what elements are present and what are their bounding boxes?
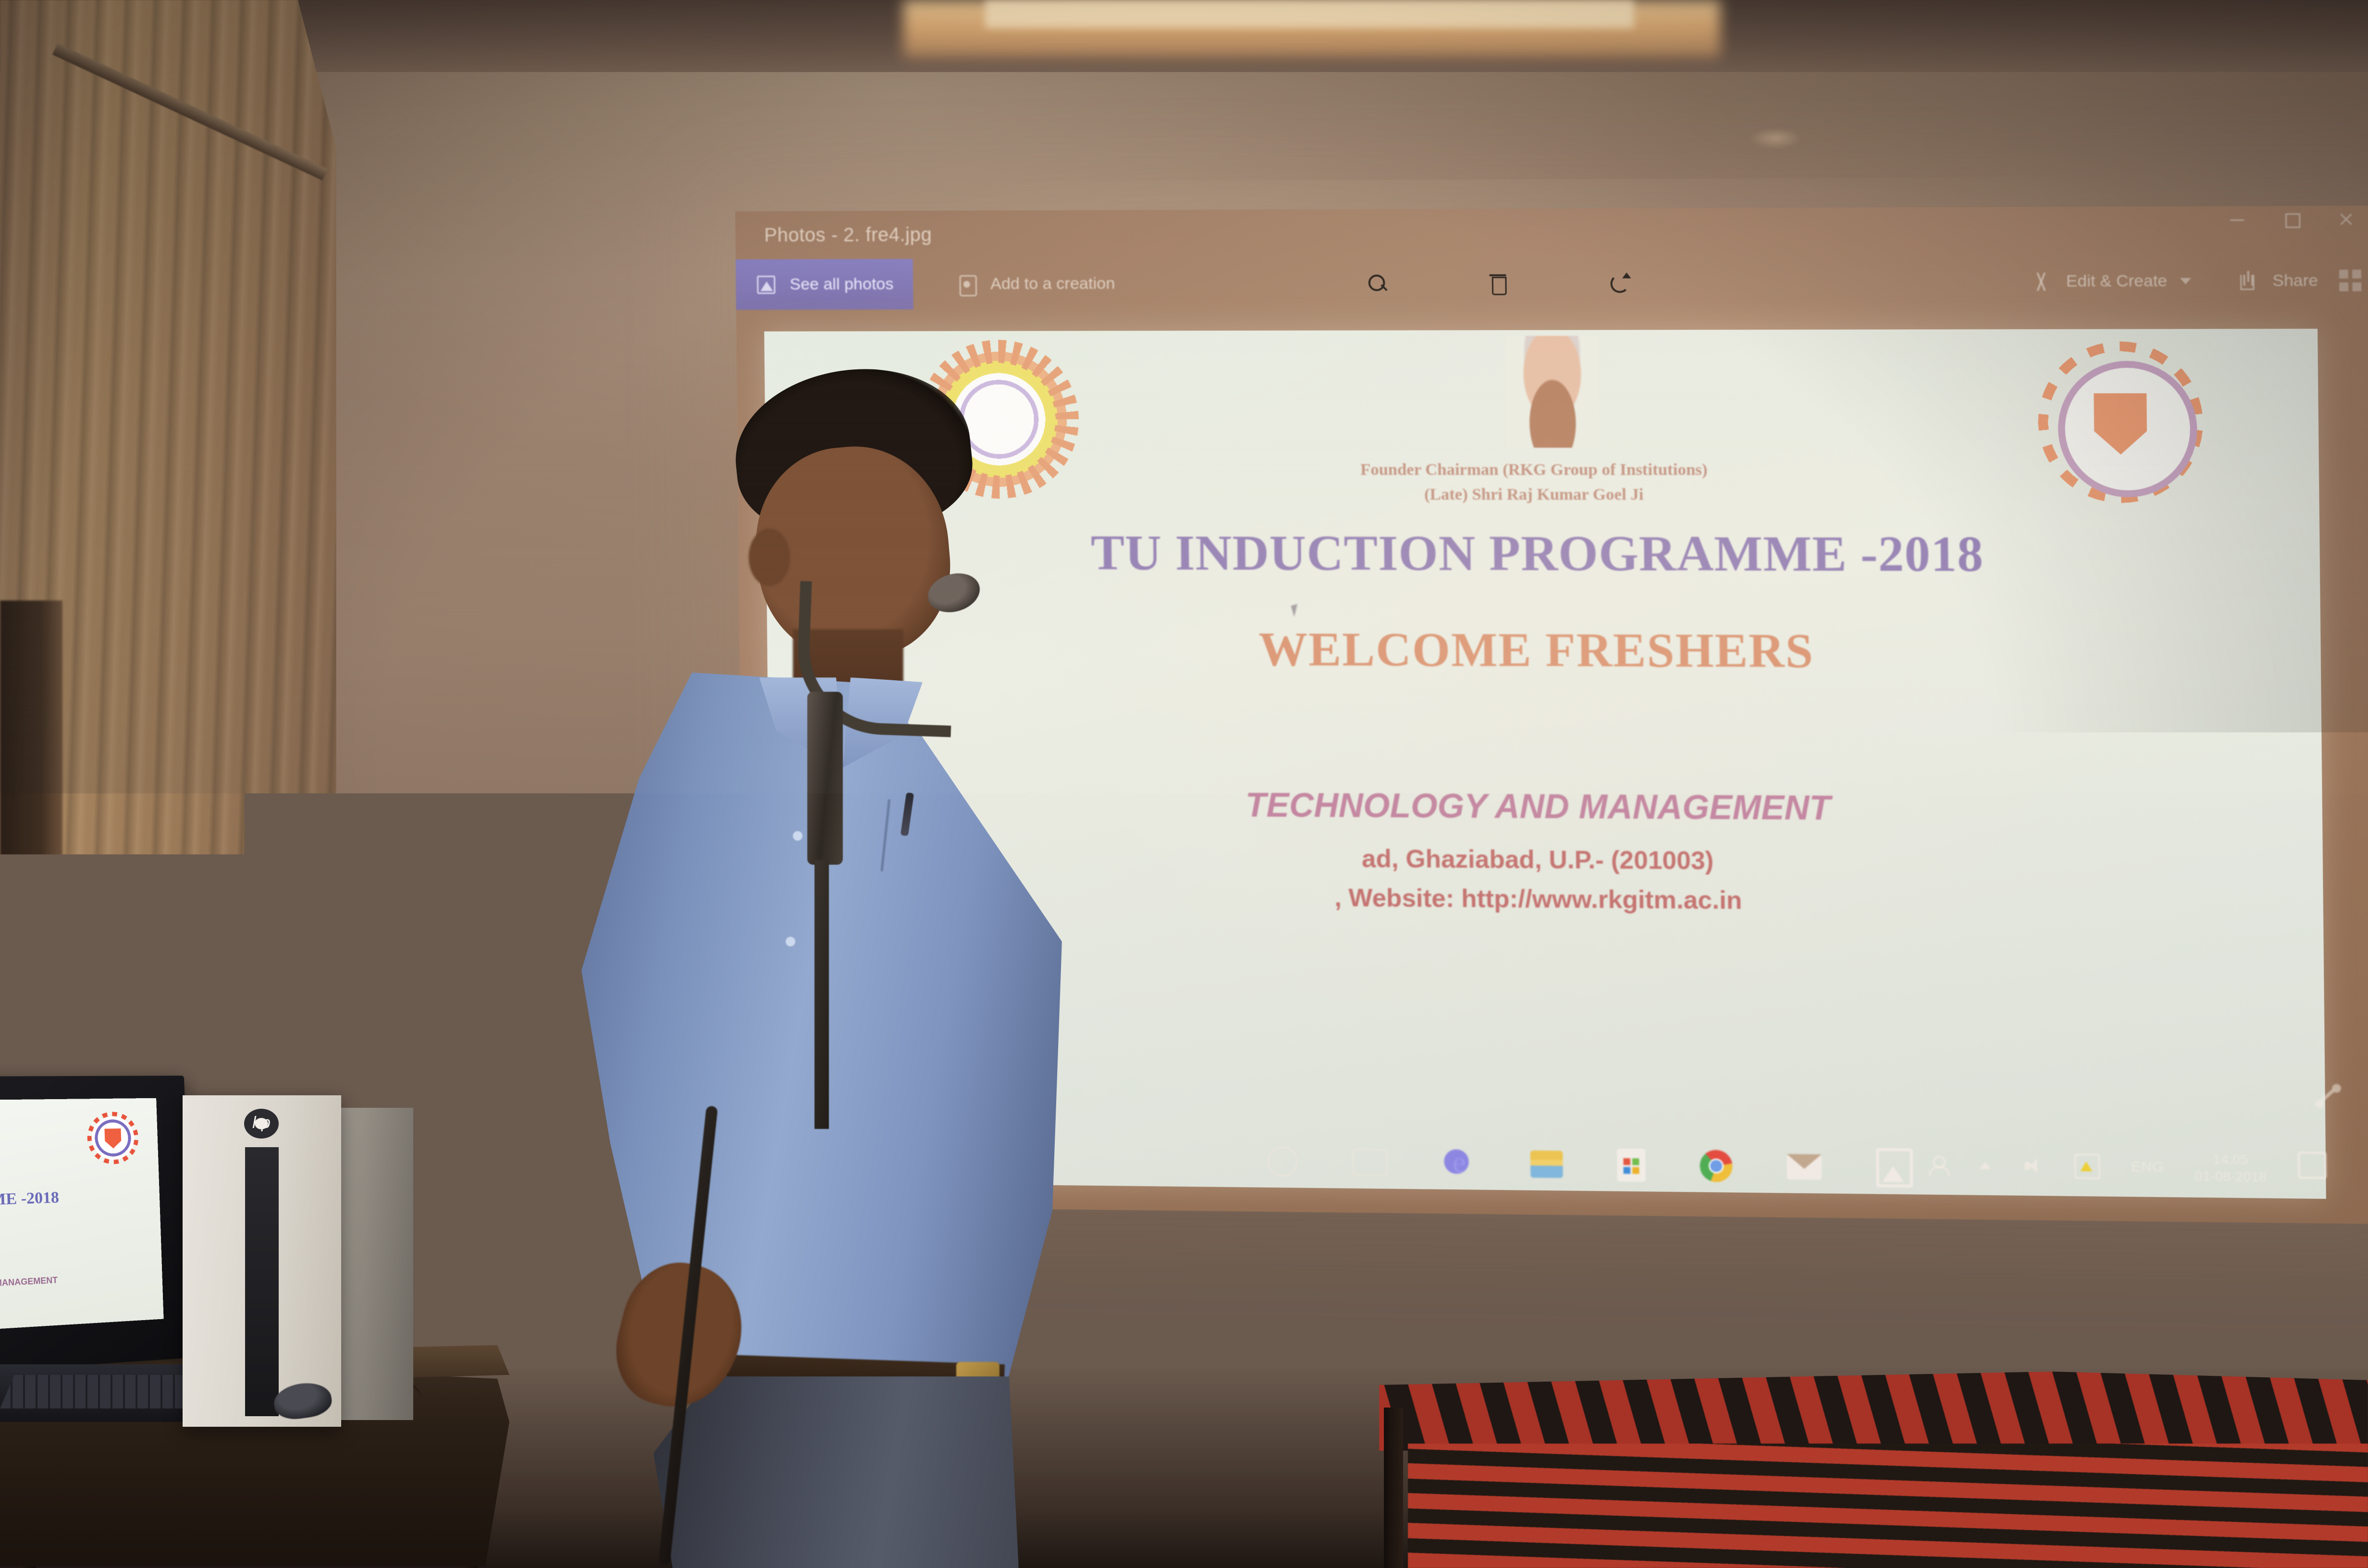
fullscreen-expand-icon[interactable] <box>2312 1081 2342 1111</box>
window-controls <box>2229 210 2355 228</box>
mouse-cursor <box>1291 604 1301 617</box>
cabinet-handle-left[interactable] <box>461 1229 519 1241</box>
hp-desktop-tower <box>183 1095 413 1427</box>
clock-date: 01-08-2018 <box>2195 1167 2267 1185</box>
shirt-button-upper <box>793 831 802 841</box>
action-center-icon[interactable] <box>2297 1151 2327 1179</box>
warning-icon[interactable] <box>2074 1153 2100 1179</box>
presenter-ear <box>749 528 790 586</box>
tower-port-strip[interactable] <box>245 1147 279 1416</box>
share-label: Share <box>2272 271 2318 291</box>
edit-scissors-icon <box>2030 270 2053 293</box>
edit-and-create-label: Edit & Create <box>2066 271 2168 291</box>
ceiling-vent <box>1749 130 1802 149</box>
close-icon[interactable] <box>2338 210 2355 227</box>
podium-highlight <box>1110 1023 1168 1470</box>
see-all-photos-button[interactable]: See all photos <box>736 259 913 310</box>
photos-window-titlebar: Photos - 2. fre4.jpg <box>735 206 2368 259</box>
minimize-icon[interactable] <box>2229 211 2246 228</box>
mail-icon[interactable] <box>1787 1154 1822 1180</box>
chrome-icon[interactable] <box>1700 1150 1733 1182</box>
add-to-creation-button[interactable]: Add to a creation <box>943 258 1128 309</box>
hp-logo-icon <box>244 1109 279 1139</box>
maximize-icon[interactable] <box>2283 211 2301 228</box>
photos-icon <box>755 273 777 295</box>
photos-center-tools <box>1366 257 1630 309</box>
wooden-podium <box>745 879 1562 1568</box>
microsoft-store-icon[interactable] <box>1617 1149 1646 1182</box>
photos-command-bar: See all photos Add to a creation Edit & … <box>736 255 2368 309</box>
ceiling-cove-light-core <box>985 0 1634 28</box>
share-icon <box>2236 269 2259 292</box>
podium-screw-right <box>1096 901 1106 912</box>
microphone-body <box>807 692 843 865</box>
volume-icon[interactable] <box>2022 1155 2043 1176</box>
rotate-icon[interactable] <box>1607 271 1630 294</box>
founder-portrait <box>1505 336 1600 448</box>
share-button[interactable]: Share <box>2236 269 2319 292</box>
add-to-creation-label: Add to a creation <box>990 274 1115 294</box>
laptop-screen[interactable]: RAMME -2018 HERS OGY AND MANAGEMENT U.P.… <box>0 1098 164 1331</box>
tower-front-panel <box>183 1095 341 1427</box>
clock-time: 14:05 <box>2213 1151 2248 1168</box>
screenshot-scene: Photos - 2. fre4.jpg See all photos Add … <box>0 0 2368 1568</box>
add-creation-icon <box>955 273 978 295</box>
podium-screw-left <box>903 908 914 919</box>
cabinet-knob[interactable] <box>538 1283 568 1312</box>
chevron-down-icon <box>2180 278 2191 284</box>
edit-and-create-button[interactable]: Edit & Create <box>2030 270 2192 293</box>
presenter-laptop: RAMME -2018 HERS OGY AND MANAGEMENT U.P.… <box>0 1076 202 1422</box>
see-all-photos-label: See all photos <box>789 275 893 294</box>
see-more-icon[interactable] <box>2339 269 2362 291</box>
laptop-title-fragment: RAMME -2018 <box>0 1188 59 1211</box>
people-icon[interactable] <box>1926 1154 1948 1175</box>
tower-side-panel <box>341 1108 413 1420</box>
photos-taskbar-icon[interactable] <box>1876 1148 1913 1188</box>
show-hidden-icons-chevron[interactable] <box>1978 1162 1991 1169</box>
presenter-shirt-pocket <box>881 799 948 877</box>
photos-right-tools: Edit & Create Share <box>2030 255 2319 307</box>
clock[interactable]: 14:05 01-08-2018 <box>2195 1151 2267 1186</box>
window-title: Photos - 2. fre4.jpg <box>764 224 932 246</box>
language-indicator[interactable]: ENG <box>2131 1159 2164 1176</box>
system-tray: ENG 14:05 01-08-2018 <box>1926 1148 2267 1186</box>
zoom-icon[interactable] <box>1366 272 1388 294</box>
delete-icon[interactable] <box>1486 271 1509 294</box>
laptop-institute-seal <box>86 1112 139 1165</box>
podium-top-surface <box>745 879 1562 997</box>
laptop-institute-fragment: OGY AND MANAGEMENT <box>0 1275 58 1291</box>
